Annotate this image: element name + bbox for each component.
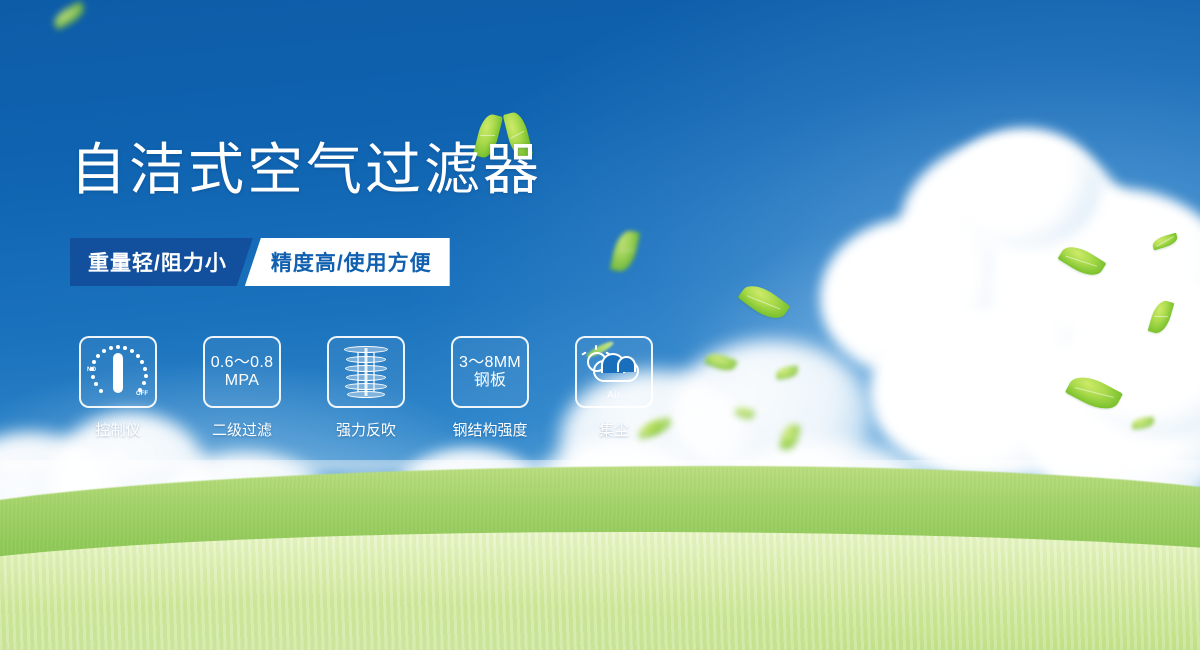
- feature-label: 钢结构强度: [452, 419, 527, 440]
- grass-field: [0, 460, 1200, 650]
- feature-item-pressure[interactable]: 0.6～0.8 MPA 二级过滤: [194, 336, 290, 440]
- feature-label: 集尘: [599, 419, 629, 440]
- cloud-shape-icon: [593, 360, 639, 382]
- dial-gauge-icon: NO OFF: [87, 343, 149, 401]
- dial-off-label: OFF: [136, 391, 148, 397]
- feature-icon-box: NO OFF: [79, 336, 157, 408]
- feature-icon-box: 3～8MM 钢板: [451, 336, 529, 408]
- leaf-icon: [50, 1, 87, 30]
- filter-cartridge-stack-icon: [340, 344, 392, 400]
- pressure-unit: MPA: [211, 372, 274, 390]
- steel-plate-icon: 3～8MM 钢板: [459, 354, 521, 389]
- steel-material: 钢板: [459, 372, 521, 390]
- page-title: 自洁式空气过滤器: [70, 142, 542, 198]
- air-label: Air: [583, 390, 645, 401]
- pressure-range-icon: 0.6～0.8 MPA: [211, 354, 274, 389]
- feature-icon-box: [327, 336, 405, 408]
- feature-icon-box: Air: [575, 336, 653, 408]
- product-banner: 自洁式空气过滤器 重量轻/阻力小 精度高/使用方便: [0, 0, 1200, 650]
- feature-item-control[interactable]: NO OFF 控制仪: [70, 336, 166, 440]
- subtitle-left-chip: 重量轻/阻力小: [70, 238, 253, 286]
- grass-front-hill: [0, 532, 1200, 650]
- air-cloud-icon: Air: [583, 344, 645, 400]
- leaf-icon: [610, 228, 640, 274]
- feature-item-blowback[interactable]: 强力反吹: [318, 336, 414, 440]
- feature-label: 控制仪: [95, 419, 140, 440]
- feature-list: NO OFF 控制仪 0.6～0.8 MPA 二级过滤: [70, 336, 662, 440]
- dial-no-label: NO: [87, 367, 96, 373]
- subtitle-bar: 重量轻/阻力小 精度高/使用方便: [70, 238, 450, 286]
- steel-thickness: 3～8MM: [459, 354, 521, 371]
- subtitle-right-chip: 精度高/使用方便: [245, 238, 450, 286]
- feature-item-steel[interactable]: 3～8MM 钢板 钢结构强度: [442, 336, 538, 440]
- feature-label: 强力反吹: [336, 419, 396, 440]
- pressure-value: 0.6～0.8: [211, 354, 274, 371]
- feature-icon-box: 0.6～0.8 MPA: [203, 336, 281, 408]
- feature-item-dust[interactable]: Air 集尘: [566, 336, 662, 440]
- feature-label: 二级过滤: [212, 419, 272, 440]
